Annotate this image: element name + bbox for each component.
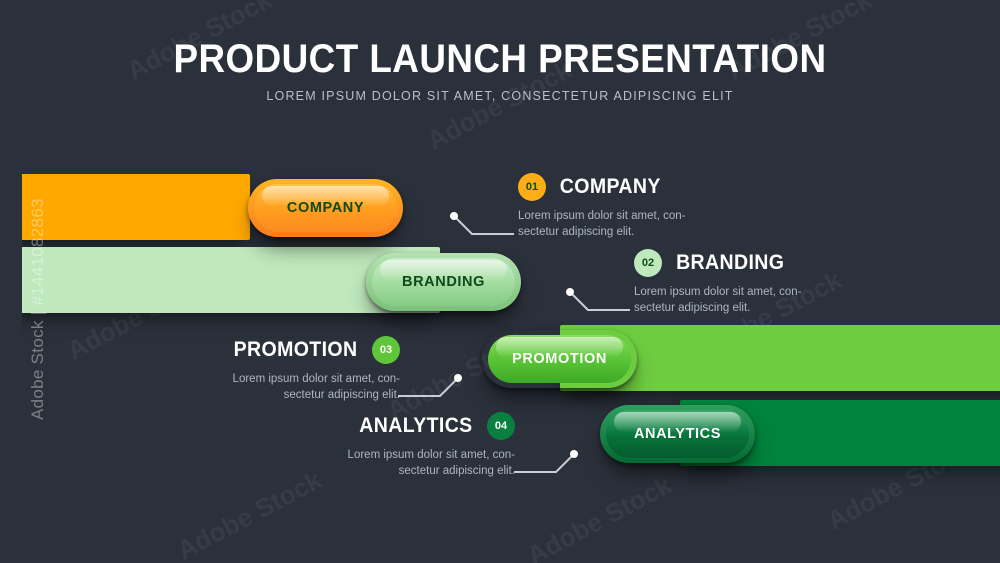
page-subtitle: LOREM IPSUM DOLOR SIT AMET, CONSECTETUR … <box>0 89 1000 103</box>
headline: PROMOTION <box>234 338 358 362</box>
pill-label: COMPANY <box>287 200 364 216</box>
connector-line-4 <box>508 448 598 482</box>
body-text: Lorem ipsum dolor sit amet, con-sectetur… <box>634 284 814 316</box>
text-block-promotion: PROMOTION 03 Lorem ipsum dolor sit amet,… <box>90 336 400 403</box>
body-text: Lorem ipsum dolor sit amet, con-sectetur… <box>335 447 515 479</box>
headline: ANALYTICS <box>359 414 472 438</box>
headline-row: 02 BRANDING <box>634 249 934 277</box>
pill-button-company[interactable]: COMPANY <box>248 179 403 237</box>
watermark-tile: Adobe Stock <box>522 470 677 563</box>
page-title: PRODUCT LAUNCH PRESENTATION <box>40 38 960 80</box>
header: PRODUCT LAUNCH PRESENTATION LOREM IPSUM … <box>0 38 1000 103</box>
pill-button-analytics[interactable]: ANALYTICS <box>600 405 755 463</box>
step-badge-03: 03 <box>372 336 400 364</box>
bar-row-1 <box>0 174 250 240</box>
headline-row: ANALYTICS 04 <box>205 412 515 440</box>
headline: COMPANY <box>560 175 661 199</box>
body-text: Lorem ipsum dolor sit amet, con-sectetur… <box>518 208 698 240</box>
pill-label: ANALYTICS <box>634 426 721 442</box>
step-badge-02: 02 <box>634 249 662 277</box>
body-text: Lorem ipsum dolor sit amet, con-sectetur… <box>220 371 400 403</box>
watermark-tile: Adobe Stock <box>172 465 327 563</box>
watermark-strip <box>0 0 22 563</box>
headline: BRANDING <box>676 251 784 275</box>
headline-row: 01 COMPANY <box>518 173 818 201</box>
step-badge-01: 01 <box>518 173 546 201</box>
text-block-branding: 02 BRANDING Lorem ipsum dolor sit amet, … <box>634 249 934 316</box>
connector-line-3 <box>392 372 482 406</box>
pill-button-promotion[interactable]: PROMOTION <box>482 330 637 388</box>
text-block-analytics: ANALYTICS 04 Lorem ipsum dolor sit amet,… <box>205 412 515 479</box>
step-badge-04: 04 <box>487 412 515 440</box>
headline-row: PROMOTION 03 <box>90 336 400 364</box>
infographic-canvas: Adobe Stock Adobe Stock Adobe Stock Adob… <box>0 0 1000 563</box>
text-block-company: 01 COMPANY Lorem ipsum dolor sit amet, c… <box>518 173 818 240</box>
pill-label: PROMOTION <box>512 351 607 367</box>
pill-label: BRANDING <box>402 274 485 290</box>
pill-button-branding[interactable]: BRANDING <box>366 253 521 311</box>
